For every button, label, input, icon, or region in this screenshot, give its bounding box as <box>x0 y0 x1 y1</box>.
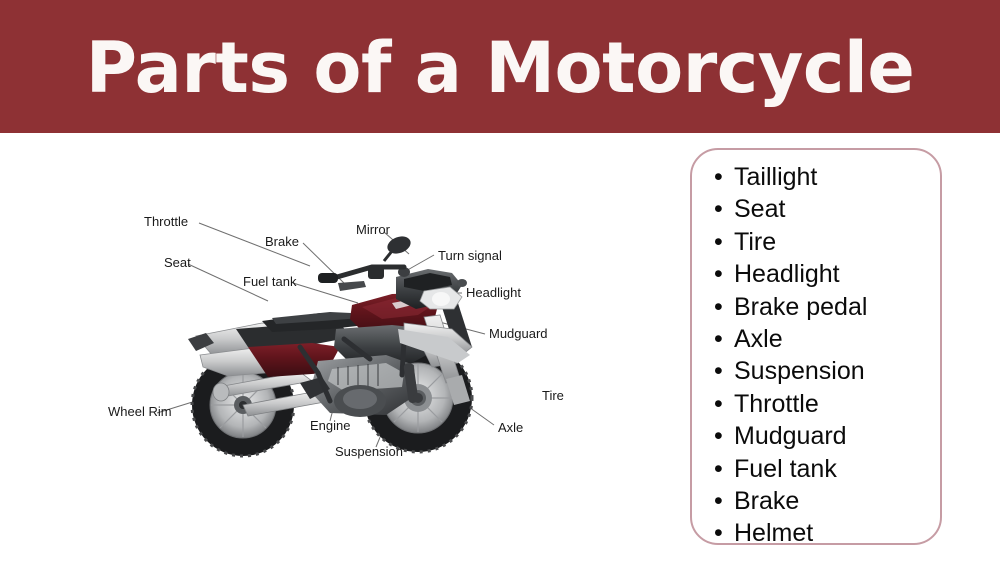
header-bar: Parts of a Motorcycle <box>0 0 1000 133</box>
parts-list-item[interactable]: •Suspension <box>692 355 940 387</box>
parts-list-item-label: Brake <box>734 487 799 515</box>
bullet-icon: • <box>714 323 723 355</box>
parts-list-item[interactable]: •Axle <box>692 323 940 355</box>
bullet-icon: • <box>714 453 723 485</box>
parts-list-item[interactable]: •Headlight <box>692 258 940 290</box>
throttle-grip <box>318 273 338 283</box>
bullet-icon: • <box>714 485 723 517</box>
parts-list-item-label: Brake pedal <box>734 293 867 321</box>
parts-list-item[interactable]: •Throttle <box>692 388 940 420</box>
diagram-label-turn-signal: Turn signal <box>438 249 502 262</box>
diagram-label-engine: Engine <box>310 419 350 432</box>
parts-list-item-label: Headlight <box>734 260 840 288</box>
parts-list-item-label: Helmet <box>734 519 813 547</box>
bullet-icon: • <box>714 355 723 387</box>
parts-list-item[interactable]: •Taillight <box>692 161 940 193</box>
bullet-icon: • <box>714 517 723 549</box>
parts-list-item[interactable]: •Fuel tank <box>692 453 940 485</box>
bullet-icon: • <box>714 388 723 420</box>
brake-lever <box>338 281 366 291</box>
parts-list-item[interactable]: •Tire <box>692 226 940 258</box>
bullet-icon: • <box>714 420 723 452</box>
diagram-label-tire: Tire <box>542 389 564 402</box>
diagram-label-mudguard: Mudguard <box>489 327 548 340</box>
diagram-label-brake: Brake <box>265 235 299 248</box>
slide-canvas: Parts of a Motorcycle <box>0 0 1000 563</box>
parts-list-item[interactable]: •Brake pedal <box>692 291 940 323</box>
diagram-label-fuel-tank: Fuel tank <box>243 275 296 288</box>
diagram-label-suspension: Suspension <box>335 445 403 458</box>
motorcycle-diagram: Throttle Brake Mirror Turn signal Seat F… <box>0 133 690 563</box>
parts-list-panel: •Taillight•Seat•Tire•Headlight•Brake ped… <box>690 148 942 545</box>
parts-list-item-label: Fuel tank <box>734 455 837 483</box>
bullet-icon: • <box>714 226 723 258</box>
parts-list-item[interactable]: •Brake <box>692 485 940 517</box>
parts-list-item-label: Taillight <box>734 163 817 191</box>
parts-list-item-label: Mudguard <box>734 422 847 450</box>
parts-list-item-label: Axle <box>734 325 783 353</box>
diagram-label-throttle: Throttle <box>144 215 188 228</box>
diagram-label-headlight: Headlight <box>466 286 521 299</box>
bullet-icon: • <box>714 161 723 193</box>
diagram-label-axle: Axle <box>498 421 523 434</box>
parts-list-item-label: Seat <box>734 195 785 223</box>
parts-list: •Taillight•Seat•Tire•Headlight•Brake ped… <box>692 150 940 550</box>
diagram-label-mirror: Mirror <box>356 223 390 236</box>
parts-list-item-label: Throttle <box>734 390 819 418</box>
motorcycle-illustration <box>0 133 690 563</box>
parts-list-item-label: Suspension <box>734 357 865 385</box>
parts-list-item[interactable]: •Mudguard <box>692 420 940 452</box>
bullet-icon: • <box>714 193 723 225</box>
parts-list-item[interactable]: •Helmet <box>692 517 940 549</box>
parts-list-item[interactable]: •Seat <box>692 193 940 225</box>
axle-part <box>413 393 423 403</box>
bullet-icon: • <box>714 258 723 290</box>
parts-list-item-label: Tire <box>734 228 776 256</box>
diagram-label-seat: Seat <box>164 256 191 269</box>
bullet-icon: • <box>714 291 723 323</box>
page-title: Parts of a Motorcycle <box>86 33 915 103</box>
diagram-label-wheel-rim: Wheel Rim <box>108 405 172 418</box>
